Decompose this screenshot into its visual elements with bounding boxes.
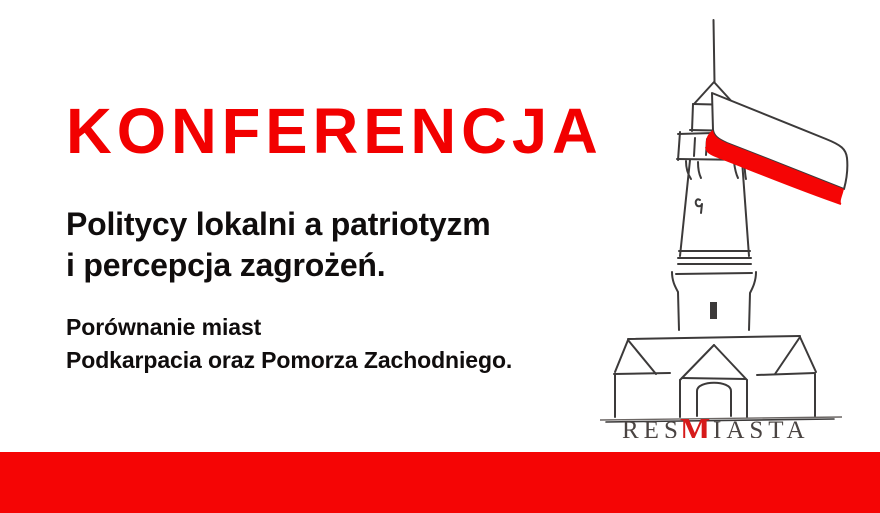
conference-poster: KONFERENCJA Politycy lokalni a patriotyz… bbox=[0, 0, 880, 513]
subtitle-line-1: Politycy lokalni a patriotyzm bbox=[66, 204, 646, 245]
subtitle: Politycy lokalni a patriotyzm i percepcj… bbox=[66, 166, 646, 286]
bottom-red-band bbox=[0, 452, 880, 513]
page-title: KONFERENCJA bbox=[66, 96, 640, 166]
lighthouse-with-polish-flag-icon: RES M IASTA bbox=[594, 8, 854, 438]
details: Porównanie miast Podkarpacia oraz Pomorz… bbox=[66, 286, 646, 377]
wordmark-prefix: RES bbox=[622, 417, 683, 438]
subtitle-line-2: i percepcja zagrożeń. bbox=[66, 245, 646, 286]
res-miasta-logo: RES M IASTA bbox=[594, 8, 854, 438]
details-line-1: Porównanie miast bbox=[66, 311, 646, 344]
wordmark-highlight: M bbox=[680, 411, 710, 438]
text-column: KONFERENCJA Politycy lokalni a patriotyz… bbox=[66, 96, 646, 377]
details-line-2: Podkarpacia oraz Pomorza Zachodniego. bbox=[66, 344, 646, 377]
wordmark-suffix: IASTA bbox=[713, 417, 810, 438]
